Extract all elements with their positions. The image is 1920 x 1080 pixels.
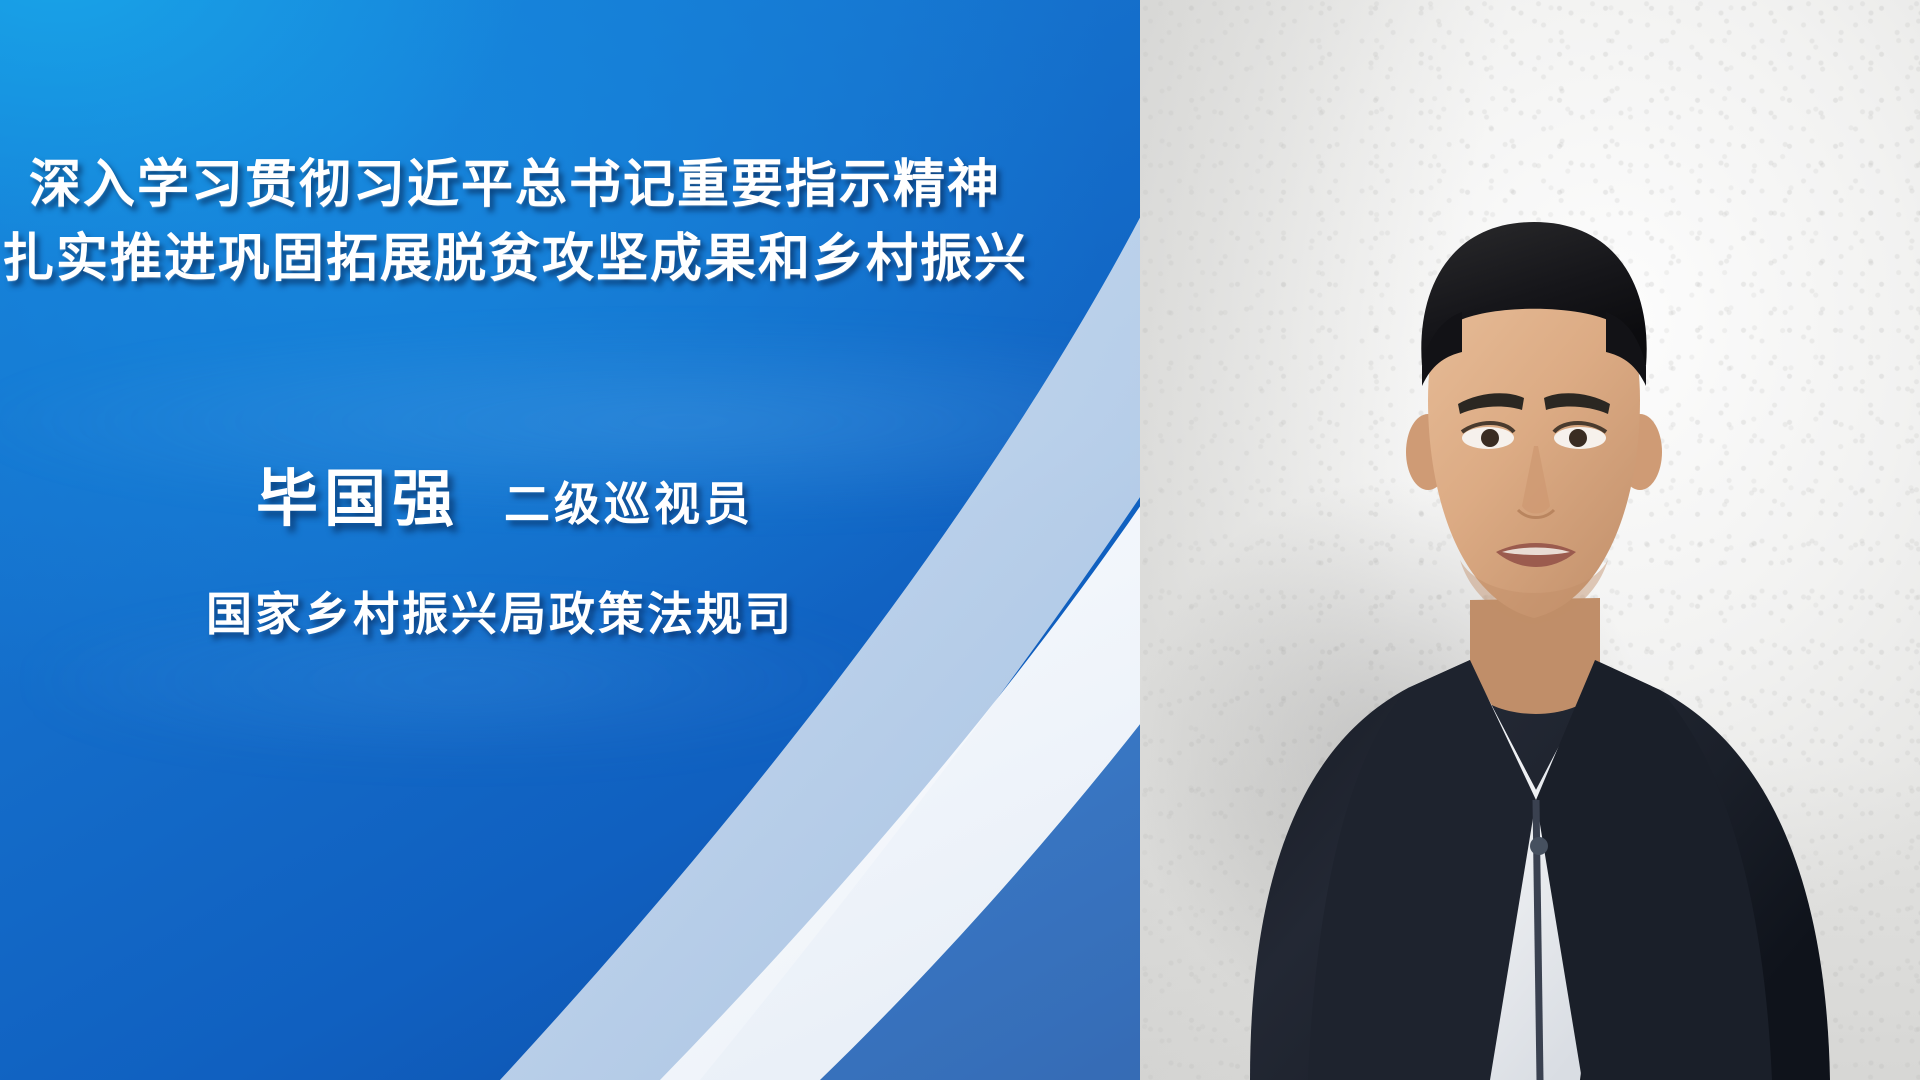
presentation-slide: 深入学习贯彻习近平总书记重要指示精神 扎实推进巩固拓展脱贫攻坚成果和乡村振兴 毕… (0, 0, 1920, 1080)
speaker-organization: 国家乡村振兴局政策法规司 (0, 578, 1000, 644)
title-line-2: 扎实推进巩固拓展脱贫攻坚成果和乡村振兴 (0, 222, 1030, 296)
speaker-name-row: 毕国强 二级巡视员 (0, 448, 1010, 538)
title-line-1: 深入学习贯彻习近平总书记重要指示精神 (0, 148, 1030, 222)
slide-title: 深入学习贯彻习近平总书记重要指示精神 扎实推进巩固拓展脱贫攻坚成果和乡村振兴 (0, 148, 1030, 296)
speaker-rank: 二级巡视员 (504, 468, 754, 534)
speaker-name: 毕国强 (256, 448, 460, 538)
text-overlay-layer: 深入学习贯彻习近平总书记重要指示精神 扎实推进巩固拓展脱贫攻坚成果和乡村振兴 毕… (0, 0, 1920, 1080)
